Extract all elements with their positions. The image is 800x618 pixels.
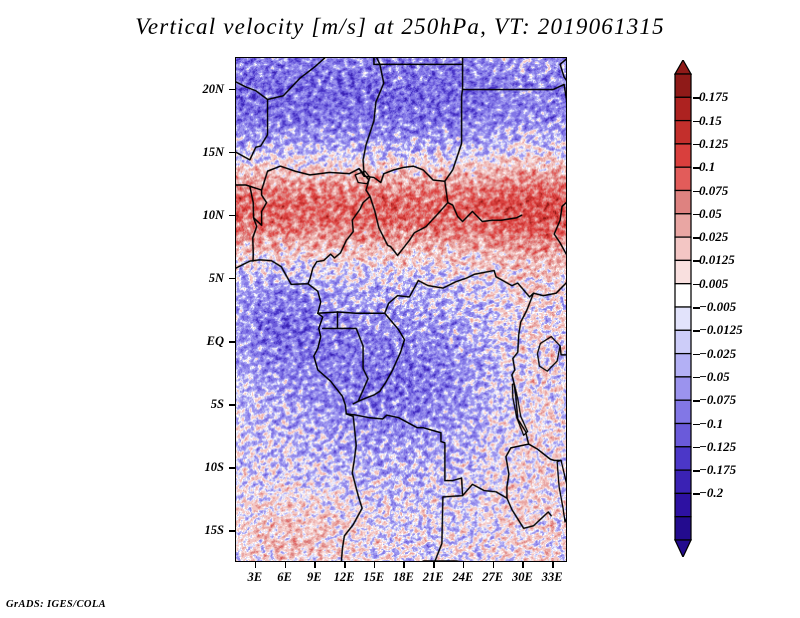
y-axis-label: 10N — [0, 208, 224, 223]
x-axis-tick — [403, 562, 405, 568]
y-axis-tick — [229, 404, 235, 406]
colorbar-tick-label: −0.025 — [699, 346, 736, 362]
colorbar-tick-label: 0.05 — [699, 206, 722, 222]
page-title: Vertical velocity [m/s] at 250hPa, VT: 2… — [0, 14, 800, 40]
colorbar-tick-label: −0.075 — [699, 392, 736, 408]
colorbar-tick-label: −0.005 — [699, 299, 736, 315]
y-axis-label: 10S — [0, 460, 224, 475]
colorbar-tick-label: −0.2 — [699, 485, 723, 501]
y-axis-label: EQ — [0, 334, 224, 349]
y-axis-tick — [229, 215, 235, 217]
y-axis-tick — [229, 278, 235, 280]
x-axis-tick — [255, 562, 257, 568]
x-axis-tick — [493, 562, 495, 568]
y-axis-label: 5N — [0, 271, 224, 286]
colorbar-tick-label: 0.075 — [699, 183, 728, 199]
colorbar-tick-label: 0.15 — [699, 113, 722, 129]
x-axis-tick — [285, 562, 287, 568]
colorbar-tick-label: 0.005 — [699, 276, 728, 292]
y-axis-tick — [229, 152, 235, 154]
footer-credit: GrADS: IGES/COLA — [6, 599, 106, 610]
x-axis-tick — [522, 562, 524, 568]
x-axis-label: 33E — [532, 570, 572, 585]
x-axis-tick — [463, 562, 465, 568]
colorbar-tick-label: −0.125 — [699, 439, 736, 455]
colorbar-tick-label: −0.0125 — [699, 322, 743, 338]
x-axis-tick — [433, 562, 435, 568]
map-plot-area — [235, 57, 567, 562]
colorbar-tick-label: 0.175 — [699, 89, 728, 105]
y-axis-tick — [229, 467, 235, 469]
y-axis-tick — [229, 530, 235, 532]
y-axis-label: 15S — [0, 523, 224, 538]
colorbar — [673, 60, 693, 557]
x-axis-tick — [374, 562, 376, 568]
grads-figure: Vertical velocity [m/s] at 250hPa, VT: 2… — [0, 0, 800, 618]
y-axis-tick — [229, 341, 235, 343]
colorbar-tick-label: 0.1 — [699, 159, 715, 175]
y-axis-label: 20N — [0, 82, 224, 97]
x-axis-tick — [344, 562, 346, 568]
colorbar-tick-label: −0.05 — [699, 369, 730, 385]
x-axis-tick — [314, 562, 316, 568]
x-axis-tick — [552, 562, 554, 568]
colorbar-tick-label: 0.125 — [699, 136, 728, 152]
colorbar-tick-label: −0.1 — [699, 416, 723, 432]
country-borders-overlay — [236, 58, 566, 561]
y-axis-tick — [229, 89, 235, 91]
y-axis-label: 15N — [0, 145, 224, 160]
colorbar-tick-label: 0.0125 — [699, 252, 735, 268]
colorbar-tick-label: 0.025 — [699, 229, 728, 245]
y-axis-label: 5S — [0, 397, 224, 412]
colorbar-tick-label: −0.175 — [699, 462, 736, 478]
